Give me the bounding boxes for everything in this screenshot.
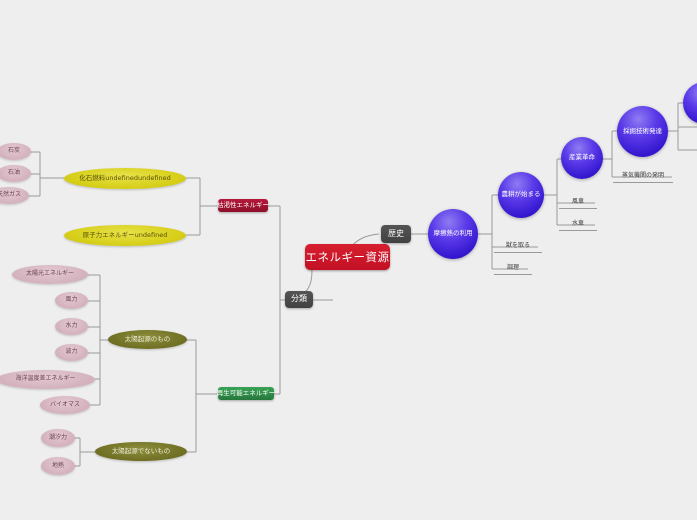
node-watermill[interactable]: 水車	[559, 218, 597, 231]
node-hydro-power[interactable]: 水力	[55, 318, 88, 335]
node-renewable-energy[interactable]: 再生可能エネルギー	[218, 387, 274, 400]
node-steam-engine-underline	[613, 182, 673, 183]
node-edge-clipped[interactable]	[683, 82, 697, 124]
node-natural-gas[interactable]: 天然ガス	[0, 187, 29, 204]
root-node[interactable]: エネルギー資源	[305, 244, 390, 270]
node-windmill-underline	[559, 208, 597, 209]
node-cooking-label: 調理	[507, 265, 519, 272]
node-biomass[interactable]: バイオマス	[40, 396, 90, 414]
node-fossil-fuel[interactable]: 化石燃料undefinedundefined	[64, 168, 186, 189]
node-friction-heat[interactable]: 摩擦熱の利用	[428, 209, 478, 259]
branch-classification[interactable]: 分類	[285, 291, 313, 308]
node-mining-technology[interactable]: 採掘技術発達	[617, 106, 668, 157]
node-hunting-underline	[494, 252, 542, 253]
node-tidal-power[interactable]: 潮汐力	[41, 429, 75, 447]
node-steam-engine[interactable]: 蒸気機関の発明	[613, 170, 673, 183]
node-watermill-label: 水車	[572, 221, 584, 228]
node-industrial-revolution[interactable]: 産業革命	[561, 137, 603, 179]
node-nuclear-energy[interactable]: 原子力エネルギーundefined	[64, 225, 186, 246]
node-watermill-underline	[559, 230, 597, 231]
node-farming-begins[interactable]: 農耕が始まる	[498, 172, 544, 218]
node-cooking[interactable]: 調理	[494, 262, 532, 275]
node-hunting[interactable]: 獣を取る	[494, 240, 542, 253]
node-oil[interactable]: 石油	[0, 165, 31, 182]
node-hunting-label: 獣を取る	[506, 243, 530, 250]
node-steam-engine-label: 蒸気機関の発明	[622, 173, 664, 180]
node-wind-power[interactable]: 風力	[55, 292, 88, 309]
node-solar-origin[interactable]: 太陽起源のもの	[108, 330, 187, 349]
node-coal[interactable]: 石炭	[0, 143, 31, 160]
node-wave-power[interactable]: 波力	[55, 344, 88, 361]
node-solar-power[interactable]: 太陽光エネルギー	[12, 265, 88, 284]
mindmap-canvas[interactable]: エネルギー資源 分類 歴史 枯渇性エネルギー 再生可能エネルギー 化石燃料und…	[0, 0, 697, 520]
node-non-solar-origin[interactable]: 太陽起源でないもの	[95, 442, 187, 461]
branch-history[interactable]: 歴史	[381, 225, 411, 243]
node-windmill[interactable]: 風車	[559, 196, 597, 209]
node-depletable-energy[interactable]: 枯渇性エネルギー	[218, 199, 268, 212]
node-windmill-label: 風車	[572, 199, 584, 206]
node-ocean-thermal[interactable]: 海洋温度差エネルギー	[0, 370, 95, 389]
node-geothermal[interactable]: 地熱	[41, 457, 75, 475]
node-cooking-underline	[494, 274, 532, 275]
